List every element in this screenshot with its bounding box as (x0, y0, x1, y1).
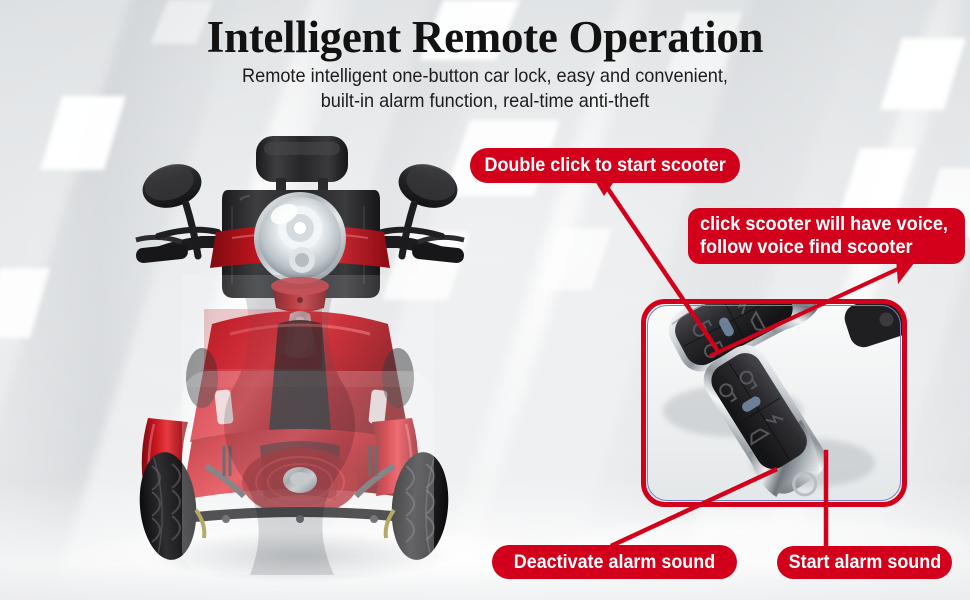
callout-start-alarm-label: Start alarm sound (788, 551, 941, 574)
key-fob-photo (645, 303, 903, 503)
grip-left (135, 237, 188, 263)
front-hub (242, 448, 358, 516)
callout-deactivate-alarm-label: Deactivate alarm sound (514, 551, 715, 574)
callout-start-alarm[interactable]: Start alarm sound (777, 546, 952, 579)
subtitle-line-1: Remote intelligent one-button car lock, … (34, 64, 936, 89)
headlight (254, 192, 346, 284)
page-title: Intelligent Remote Operation (0, 14, 970, 61)
subtitle-line-2: built-in alarm function, real-time anti-… (34, 89, 936, 114)
callout-double-click[interactable]: Double click to start scooter (470, 148, 740, 183)
page-subtitle: Remote intelligent one-button car lock, … (34, 64, 936, 114)
callout-voice-find[interactable]: click scooter will have voice, follow vo… (688, 208, 965, 264)
infographic-canvas: Intelligent Remote Operation Remote inte… (0, 0, 970, 600)
callout-deactivate-alarm[interactable]: Deactivate alarm sound (492, 545, 737, 579)
key-fob-photo-frame (645, 303, 903, 503)
callout-voice-find-line-1: click scooter will have voice, (700, 213, 948, 236)
callout-voice-find-line-2: follow voice find scooter (700, 236, 948, 259)
grip-right (411, 237, 464, 263)
scooter-product-image (120, 128, 480, 588)
callout-double-click-label: Double click to start scooter (484, 154, 725, 177)
